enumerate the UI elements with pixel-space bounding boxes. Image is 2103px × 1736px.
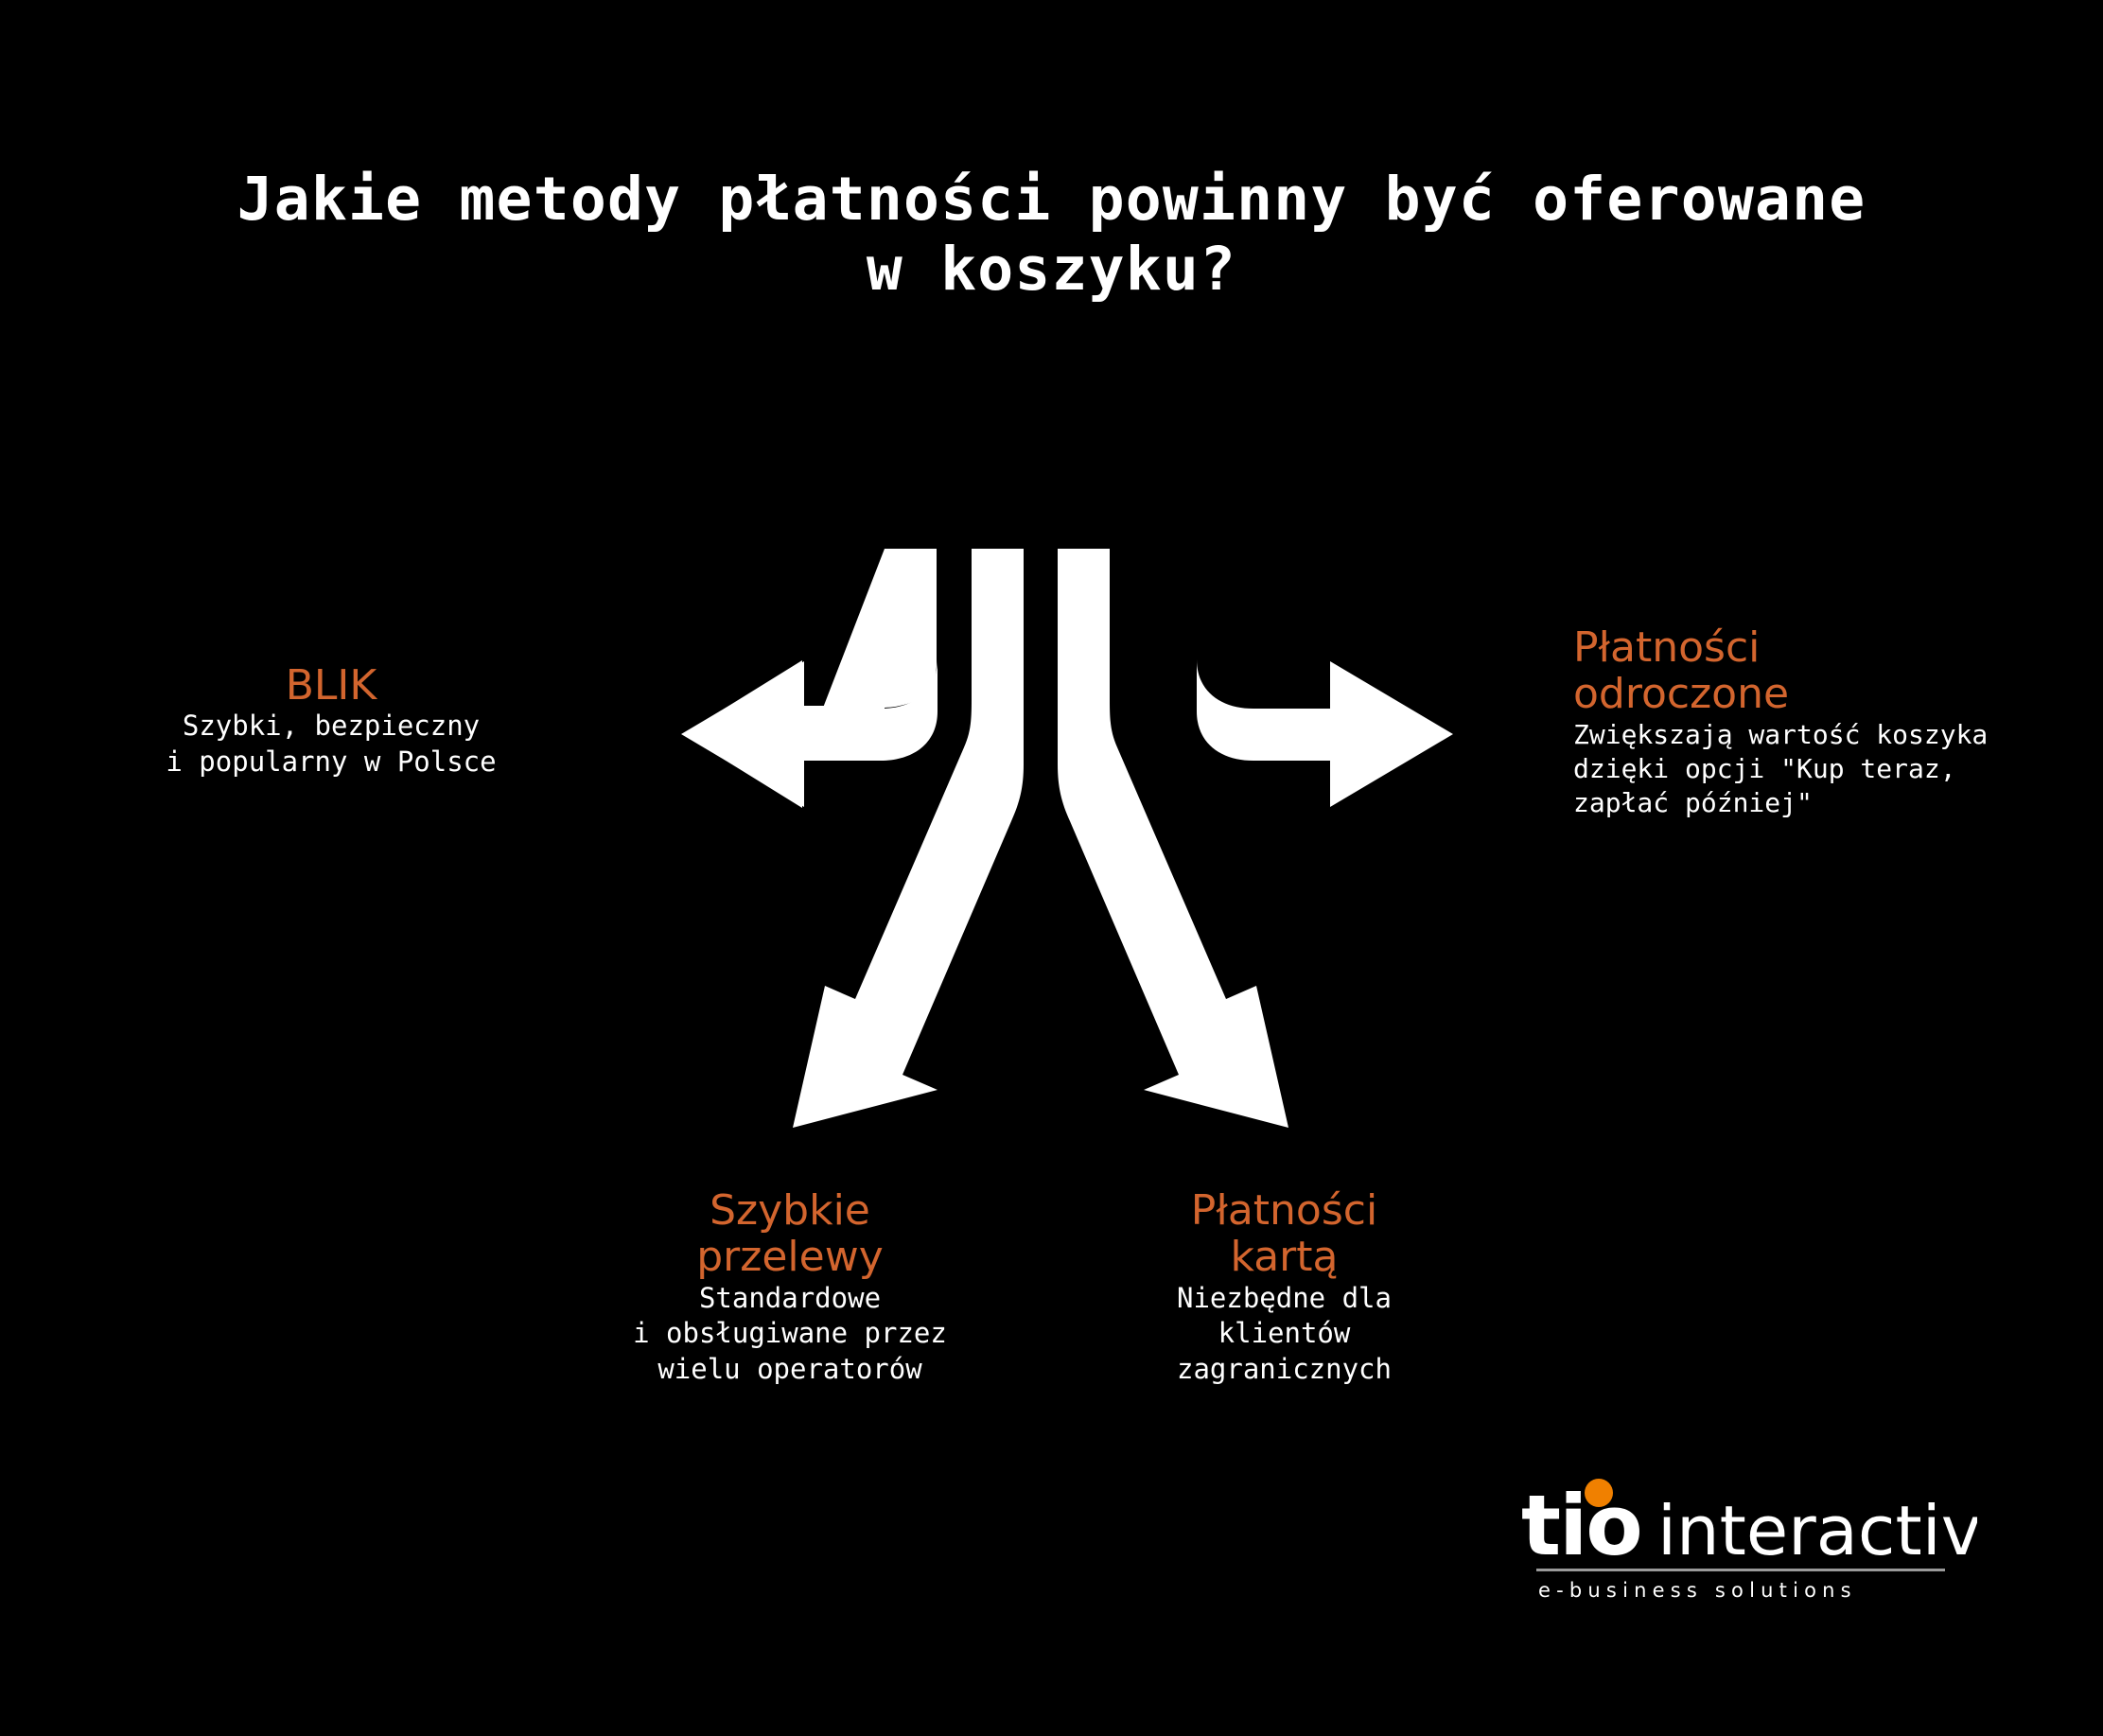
branch-heading-blik: BLIK	[114, 662, 549, 709]
diverging-arrows-diagram	[549, 549, 1533, 1164]
branch-heading-platnosci-odroczone: Płatności odroczone	[1573, 624, 2065, 718]
branch-label-platnosci-karta: Płatności kartą Niezbędne dla klientów z…	[1121, 1187, 1447, 1388]
logo-tagline: e-business solutions	[1538, 1579, 1857, 1602]
branch-label-platnosci-odroczone: Płatności odroczone Zwiększają wartość k…	[1573, 624, 2065, 821]
branch-body-platnosci-karta: Niezbędne dla klientów zagranicznych	[1121, 1281, 1447, 1388]
infographic-canvas: Jakie metody płatności powinny być ofero…	[0, 0, 2103, 1736]
branch-body-szybkie-przelewy: Standardowe i obsługiwane przez wielu op…	[568, 1281, 1012, 1388]
branch-label-szybkie-przelewy: Szybkie przelewy Standardowe i obsługiwa…	[568, 1187, 1012, 1388]
branch-heading-szybkie-przelewy: Szybkie przelewy	[568, 1187, 1012, 1281]
arrow-ribbon-left	[683, 549, 937, 808]
tio-interactive-logo: tio interactive e-business solutions	[1504, 1464, 1977, 1606]
branch-label-blik: BLIK Szybki, bezpieczny i popularny w Po…	[114, 662, 549, 780]
arrow-right	[1144, 549, 1453, 807]
branch-body-platnosci-odroczone: Zwiększają wartość koszyka dzięki opcji …	[1573, 718, 2065, 821]
logo-wordmark-secondary: interactive	[1657, 1491, 1977, 1570]
branch-body-blik: Szybki, bezpieczny i popularny w Polsce	[114, 709, 549, 780]
page-title: Jakie metody płatności powinny być ofero…	[0, 165, 2103, 304]
logo-wordmark-primary: tio	[1521, 1477, 1641, 1574]
arrow-down-right	[1058, 549, 1288, 1128]
logo-divider	[1536, 1569, 1945, 1571]
branch-heading-platnosci-karta: Płatności kartą	[1121, 1187, 1447, 1281]
